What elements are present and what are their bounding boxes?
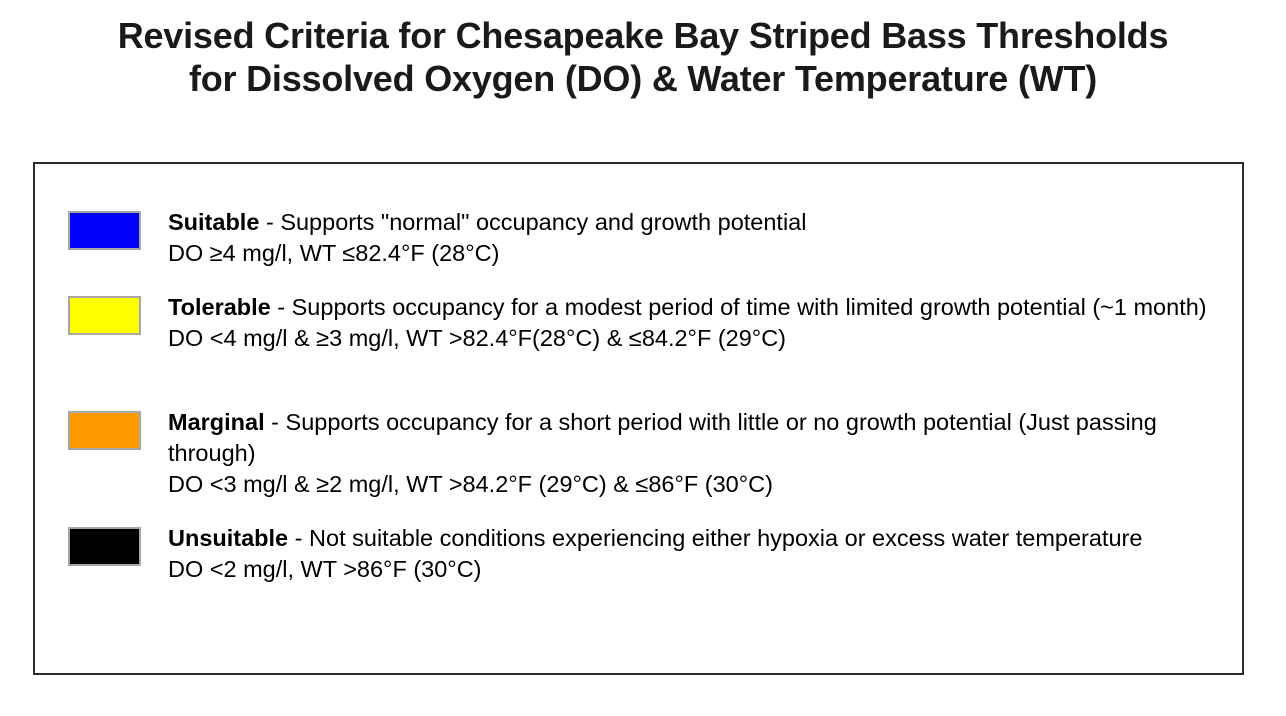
legend-item-text-marginal: Marginal - Supports occupancy for a shor…	[168, 407, 1228, 500]
legend-separator: -	[288, 525, 309, 551]
legend-spec-tolerable: DO <4 mg/l & ≥3 mg/l, WT >82.4°F(28°C) &…	[168, 323, 1228, 354]
legend-item-text-suitable: Suitable - Supports "normal" occupancy a…	[168, 207, 1228, 269]
legend-list: Suitable - Supports "normal" occupancy a…	[35, 164, 1242, 673]
legend-description-unsuitable: Not suitable conditions experiencing eit…	[309, 525, 1142, 551]
color-swatch-yellow	[68, 296, 141, 335]
legend-panel: Suitable - Supports "normal" occupancy a…	[33, 162, 1244, 675]
legend-separator: -	[259, 209, 280, 235]
legend-spec-unsuitable: DO <2 mg/l, WT >86°F (30°C)	[168, 554, 1228, 585]
legend-description-marginal: Supports occupancy for a short period wi…	[168, 409, 1157, 466]
legend-term-suitable: Suitable	[168, 209, 259, 235]
page-title-line-2: for Dissolved Oxygen (DO) & Water Temper…	[0, 57, 1286, 100]
legend-term-unsuitable: Unsuitable	[168, 525, 288, 551]
legend-item-text-tolerable: Tolerable - Supports occupancy for a mod…	[168, 292, 1228, 354]
legend-term-marginal: Marginal	[168, 409, 265, 435]
legend-spec-suitable: DO ≥4 mg/l, WT ≤82.4°F (28°C)	[168, 238, 1228, 269]
legend-spec-marginal: DO <3 mg/l & ≥2 mg/l, WT >84.2°F (29°C) …	[168, 469, 1228, 500]
page-title: Revised Criteria for Chesapeake Bay Stri…	[0, 14, 1286, 100]
legend-description-suitable: Supports "normal" occupancy and growth p…	[280, 209, 806, 235]
legend-term-tolerable: Tolerable	[168, 294, 271, 320]
color-swatch-blue	[68, 211, 141, 250]
legend-separator: -	[271, 294, 292, 320]
color-swatch-black	[68, 527, 141, 566]
legend-separator: -	[265, 409, 286, 435]
page-title-line-1: Revised Criteria for Chesapeake Bay Stri…	[0, 14, 1286, 57]
color-swatch-orange	[68, 411, 141, 450]
legend-item-text-unsuitable: Unsuitable - Not suitable conditions exp…	[168, 523, 1228, 585]
legend-description-tolerable: Supports occupancy for a modest period o…	[292, 294, 1207, 320]
